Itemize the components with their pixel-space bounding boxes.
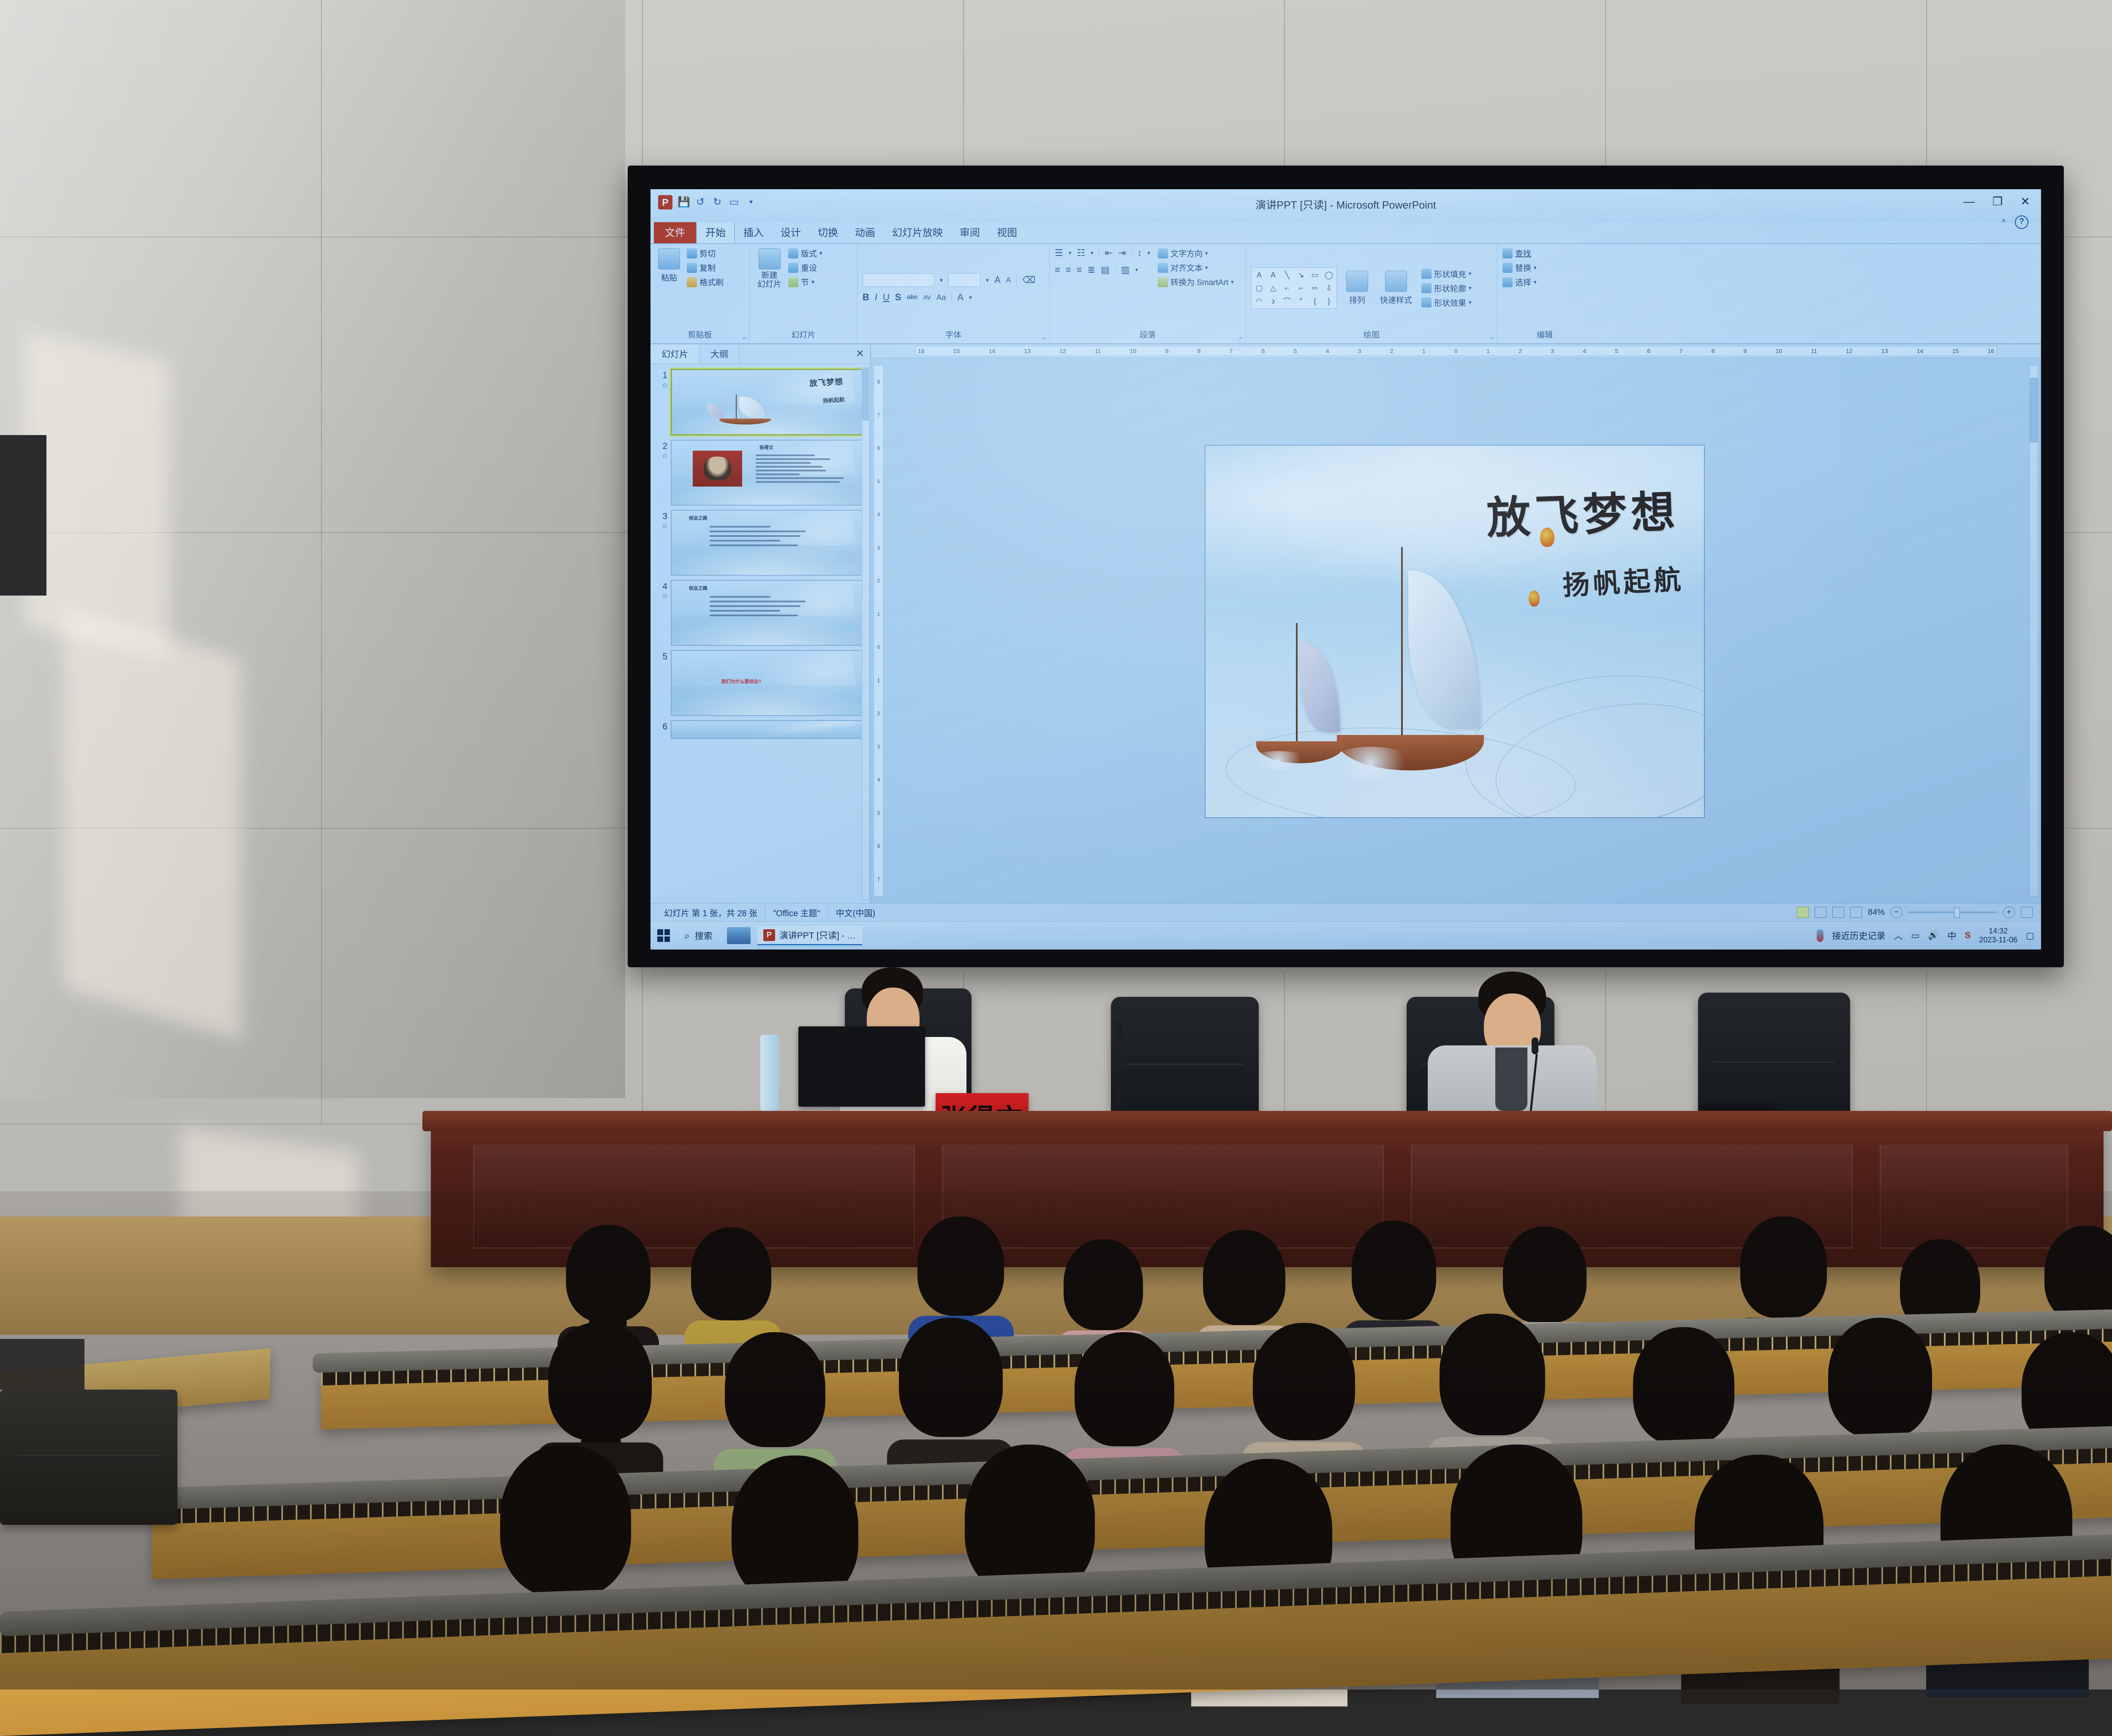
ruler-tick: 0 — [1454, 348, 1458, 354]
bold-button[interactable]: B — [863, 292, 869, 303]
underline-button[interactable]: U — [883, 292, 890, 303]
select-icon — [1502, 277, 1513, 287]
minimize-button[interactable]: — — [1963, 195, 1975, 208]
slide-thumbnail-list[interactable]: 1 ✩ 放飞梦想 扬帆起航 — [650, 364, 870, 903]
replace-icon — [1502, 263, 1513, 273]
shrink-font-icon[interactable]: A — [1006, 276, 1011, 284]
text-direction-icon — [1158, 248, 1168, 258]
find-button[interactable]: 查找 — [1502, 248, 1537, 259]
zoom-level-label: 84% — [1868, 908, 1885, 917]
font-color-button[interactable]: A — [957, 292, 963, 303]
line-spacing-icon[interactable]: ↕ — [1137, 248, 1142, 258]
change-case-button[interactable]: Aa — [936, 293, 946, 302]
slide-thumbnail-6[interactable] — [671, 720, 863, 739]
group-label-editing: 编辑 — [1502, 329, 1587, 342]
maximize-button[interactable]: ❐ — [1992, 195, 2003, 208]
shape-outline-button[interactable]: 形状轮廓 ▾ — [1421, 283, 1472, 294]
thumb-title-line1: 放飞梦想 — [809, 375, 843, 389]
line-shape-icon[interactable]: ╲ — [1281, 269, 1293, 281]
rectangle-shape-icon[interactable]: ▭ — [1309, 269, 1321, 281]
network-icon[interactable]: ▭ — [1911, 931, 1919, 941]
tab-file[interactable]: 文件 — [654, 220, 696, 243]
zoom-out-button[interactable]: − — [1891, 906, 1902, 918]
shape-fill-button[interactable]: 形状填充 ▾ — [1421, 268, 1472, 280]
ruler-tick: 11 — [1095, 348, 1101, 354]
slide-count-status: 幻灯片 第 1 张，共 28 张 — [656, 906, 765, 919]
tab-outline-pane[interactable]: 大纲 — [699, 344, 740, 364]
ribbon-group-clipboard: 粘贴 剪切 复制 — [650, 244, 750, 343]
copy-label: 复制 — [699, 262, 716, 273]
select-button[interactable]: 选择 ▾ — [1502, 276, 1537, 288]
align-right-icon[interactable]: ≡ — [1077, 264, 1082, 275]
notification-icon[interactable]: ▢ — [2026, 931, 2034, 941]
italic-button[interactable]: I — [875, 292, 877, 303]
thumbnail-scrollbar[interactable] — [862, 367, 869, 900]
ruler-tick: 12 — [1846, 348, 1853, 354]
shape-effects-label: 形状效果 — [1434, 297, 1466, 308]
window-title: 演讲PPT [只读] - Microsoft PowerPoint — [650, 197, 2041, 212]
shape-outline-label: 形状轮廓 — [1434, 283, 1466, 294]
horizontal-ruler: 16 15 14 13 12 11 10 9 8 7 6 5 4 — [871, 344, 2041, 358]
distribute-icon[interactable]: ▤ — [1101, 264, 1110, 275]
tab-animations[interactable]: 动画 — [846, 220, 884, 243]
ruler-tick: 7 — [1230, 348, 1233, 354]
ruler-tick: 6 — [1262, 348, 1265, 354]
title-bar: P 💾 ↺ ↻ ▭ ▾ 演讲PPT [只读] - Microsoft Power… — [650, 189, 2041, 222]
ruler-tick: 4 — [877, 777, 880, 783]
ribbon-group-slides: 新建 幻灯片 版式 ▾ 重设 — [750, 244, 857, 343]
ruler-tick: 8 — [1198, 348, 1201, 354]
thumbnail-row[interactable]: 3 ✩ 创业之路 — [650, 508, 870, 578]
arrange-icon — [1346, 271, 1368, 292]
shape-effects-icon — [1421, 297, 1432, 307]
right-brace-shape-icon[interactable]: } — [1323, 295, 1335, 307]
replace-label: 替换 — [1515, 262, 1531, 273]
layout-button[interactable]: 版式 ▾ — [788, 248, 822, 259]
font-style-row[interactable]: B I U S abc AV Aa A ▾ — [863, 292, 972, 303]
theme-status[interactable]: "Office 主题" — [765, 906, 828, 919]
text-shadow-button[interactable]: S — [895, 292, 901, 303]
photo-app-icon[interactable] — [727, 927, 751, 944]
character-spacing-button[interactable]: AV — [923, 294, 931, 301]
format-painter-icon — [687, 277, 697, 287]
taskbar-search[interactable]: ⌕ 搜索 — [677, 929, 720, 942]
ruler-tick: 6 — [877, 843, 880, 849]
ruler-tick: 10 — [1130, 348, 1137, 354]
paste-label: 粘贴 — [661, 272, 677, 283]
weather-thermometer-icon — [1817, 929, 1824, 942]
help-icon[interactable]: ? — [2015, 215, 2028, 229]
tab-transitions[interactable]: 切换 — [809, 220, 846, 243]
ruler-tick: 15 — [953, 348, 960, 354]
ruler-tick: 7 — [877, 876, 880, 882]
ribbon-group-editing: 查找 替换 ▾ 选择 ▾ — [1497, 244, 1592, 343]
thumb-bullet-lines — [756, 454, 851, 483]
editor-scrollbar[interactable] — [2029, 365, 2039, 896]
cut-button[interactable]: 剪切 — [687, 248, 724, 259]
ruler-tick: 1 — [1422, 348, 1426, 354]
ruler-tick: 8 — [1711, 348, 1715, 354]
clipboard-dialog-launcher[interactable]: ⌐ — [743, 335, 747, 342]
ruler-tick: 4 — [1583, 348, 1586, 354]
new-slide-label: 新建 幻灯片 — [757, 272, 781, 289]
thumb-title-line2: 扬帆起航 — [823, 395, 845, 405]
new-slide-button[interactable]: 新建 幻灯片 — [755, 248, 784, 290]
ruler-tick: 13 — [1024, 348, 1031, 354]
strikethrough-button[interactable]: abc — [907, 294, 918, 301]
section-icon — [788, 277, 798, 287]
ruler-tick: 9 — [1743, 348, 1747, 354]
shapes-gallery[interactable]: A A ╲ ↘ ▭ ◯ ▢ △ ⌐ ⌐ ⇨ ⇩ ◠ — [1251, 267, 1337, 309]
slideshow-icon[interactable] — [1850, 907, 1862, 918]
align-text-button[interactable]: 对齐文本 ▾ — [1158, 262, 1234, 273]
reset-button[interactable]: 重设 — [788, 262, 822, 273]
thumbnail-number: 4 — [662, 582, 667, 592]
ribbon-help-row[interactable]: ^ ? — [2002, 215, 2028, 229]
window-controls[interactable]: — ❐ ✕ — [1963, 195, 2030, 208]
quick-styles-label: 快速样式 — [1380, 294, 1412, 305]
thumb-portrait-photo — [693, 451, 743, 487]
elbow-arrow-icon[interactable]: ⌐ — [1295, 282, 1307, 294]
drawing-dialog-launcher[interactable]: ⌐ — [1491, 335, 1494, 342]
numbering-icon[interactable]: ☷ — [1077, 248, 1085, 258]
thumb-title: 张得文 — [759, 444, 773, 451]
ruler-tick: 5 — [1615, 348, 1618, 354]
quick-styles-icon — [1385, 271, 1407, 292]
quick-styles-button[interactable]: 快速样式 — [1377, 270, 1415, 306]
paste-button[interactable]: 粘贴 — [656, 248, 683, 284]
lecture-hall-room: P 💾 ↺ ↻ ▭ ▾ 演讲PPT [只读] - Microsoft Power… — [0, 0, 2112, 1690]
ruler-tick: 12 — [1059, 348, 1066, 354]
thumbnail-number: 3 — [662, 512, 667, 522]
smartart-icon — [1158, 277, 1168, 287]
normal-view-icon[interactable] — [1797, 907, 1809, 918]
ruler-tick: 2 — [1390, 348, 1393, 354]
thumbnail-number: 1 — [662, 370, 667, 381]
close-pane-icon[interactable]: ✕ — [856, 348, 864, 360]
ruler-tick: 1 — [877, 611, 880, 617]
ruler-tick: 1 — [1486, 348, 1490, 354]
slide-thumbnail-pane[interactable]: 幻灯片 大纲 ✕ 1 ✩ 放飞梦想 — [650, 344, 871, 903]
group-label-drawing: 绘图 — [1251, 329, 1492, 342]
ruler-tick: 5 — [1294, 348, 1297, 354]
windows-taskbar[interactable]: ⌕ 搜索 P 演讲PPT [只读] - … 接近历史记录 ︿ ▭ 🔊 中 S — [650, 921, 2041, 950]
ruler-tick: 5 — [877, 479, 880, 484]
ribbon-group-font: ▾ ▾ A A ⌫ B I U S — [857, 244, 1050, 343]
search-label: 搜索 — [695, 929, 713, 942]
find-icon — [1502, 248, 1513, 258]
reset-label: 重设 — [801, 262, 817, 273]
ribbon-group-paragraph: ☰▾ ☷▾ ⇤ ⇥ ↕▾ ≡ ≡ ≡ — [1050, 244, 1246, 343]
close-button[interactable]: ✕ — [2020, 195, 2030, 208]
ruler-tick: 3 — [1358, 348, 1361, 354]
triangle-shape-icon[interactable]: △ — [1267, 282, 1279, 294]
columns-icon[interactable]: ▥ — [1121, 264, 1130, 275]
language-status[interactable]: 中文(中国) — [828, 906, 883, 919]
group-label-slides: 幻灯片 — [755, 329, 852, 342]
clock-date: 2023-11-06 — [1979, 936, 2017, 944]
align-left-icon[interactable]: ≡ — [1055, 264, 1060, 275]
paste-icon — [658, 248, 680, 269]
shape-fill-label: 形状填充 — [1434, 268, 1466, 280]
scribble-shape-icon[interactable]: ϶ — [1267, 295, 1279, 307]
ruler-tick: 9 — [1165, 348, 1169, 354]
align-text-icon — [1158, 263, 1168, 273]
ruler-tick: 7 — [1679, 348, 1682, 354]
align-row[interactable]: ≡ ≡ ≡ ≣ ▤ ▥▾ — [1055, 264, 1150, 275]
display-screen: P 💾 ↺ ↻ ▭ ▾ 演讲PPT [只读] - Microsoft Power… — [650, 189, 2041, 950]
slide-thumbnail-1[interactable]: 放飞梦想 扬帆起航 — [671, 369, 863, 435]
ruler-tick: 2 — [877, 578, 880, 584]
new-slide-icon — [759, 248, 781, 269]
right-arrow-shape-icon[interactable]: ⇨ — [1309, 282, 1321, 294]
group-label-font: 字体 — [863, 329, 1044, 342]
layout-label: 版式 — [801, 248, 817, 259]
slide-thumbnail-4[interactable]: 创业之路 — [671, 580, 863, 646]
reading-view-icon[interactable] — [1832, 907, 1844, 918]
slide-thumbnail-5[interactable]: 我们为什么要创业? — [671, 650, 863, 716]
status-bar[interactable]: 幻灯片 第 1 张，共 28 张 "Office 主题" 中文(中国) 84% … — [650, 903, 2041, 921]
down-arrow-shape-icon[interactable]: ⇩ — [1323, 282, 1335, 294]
bullets-icon[interactable]: ☰ — [1055, 248, 1063, 258]
search-icon: ⌕ — [684, 930, 690, 941]
slide-editor[interactable]: 16 15 14 13 12 11 10 9 8 7 6 5 4 — [871, 344, 2041, 903]
podium-desk-top — [422, 1111, 2112, 1131]
zoom-in-button[interactable]: + — [2003, 906, 2015, 918]
chevron-up-icon[interactable]: ︿ — [1894, 929, 1902, 942]
ruler-tick: 14 — [988, 348, 995, 354]
thumb-bullet-lines — [710, 596, 836, 616]
freeform-shape-icon[interactable]: ◠ — [1253, 295, 1266, 307]
zoom-slider-handle[interactable] — [1954, 908, 1960, 918]
collapse-ribbon-icon[interactable]: ^ — [2002, 218, 2006, 227]
scissors-icon — [687, 248, 697, 258]
thumbpane-tabs[interactable]: 幻灯片 大纲 ✕ — [650, 344, 870, 364]
thumbnail-row[interactable]: 1 ✩ 放飞梦想 扬帆起航 — [650, 367, 870, 438]
ruler-tick: 15 — [1952, 348, 1959, 354]
section-label: 节 — [801, 276, 809, 288]
decrease-indent-icon[interactable]: ⇤ — [1105, 248, 1113, 258]
convert-smartart-button[interactable]: 转换为 SmartArt ▾ — [1158, 276, 1234, 288]
clear-formatting-icon[interactable]: ⌫ — [1022, 275, 1035, 286]
slide-title-line1: 放飞梦想 — [1485, 476, 1680, 546]
animation-star-icon: ✩ — [662, 522, 667, 530]
taskbar-app-label: 演讲PPT [只读] - … — [779, 929, 856, 941]
rounded-rect-shape-icon[interactable]: ▢ — [1253, 282, 1266, 294]
slide-sorter-icon[interactable] — [1815, 907, 1826, 918]
arrange-label: 排列 — [1349, 294, 1365, 305]
ruler-tick: 6 — [1647, 348, 1650, 354]
elbow-connector-icon[interactable]: ⌐ — [1281, 282, 1293, 294]
ruler-tick: 3 — [877, 744, 880, 750]
ruler-tick: 2 — [1519, 348, 1522, 354]
sunlight-patch — [25, 331, 169, 657]
system-tray[interactable]: 接近历史记录 ︿ ▭ 🔊 中 S 14:32 2023-11-06 ▢ — [1817, 927, 2034, 944]
layout-icon — [788, 248, 798, 258]
ruler-tick: 5 — [877, 810, 880, 816]
tab-home[interactable]: 开始 — [696, 219, 735, 243]
ime-icon[interactable]: 中 — [1947, 929, 1956, 942]
tab-slides-pane[interactable]: 幻灯片 — [650, 344, 699, 364]
windows-start-icon[interactable] — [657, 929, 670, 942]
ruler-tick: 8 — [877, 379, 880, 385]
thumb-title: 创业之路 — [689, 514, 708, 521]
align-text-label: 对齐文本 — [1170, 262, 1203, 273]
volume-icon[interactable]: 🔊 — [1928, 931, 1939, 941]
curve-shape-icon[interactable]: ⌒ — [1281, 295, 1293, 307]
side-monitor — [0, 1339, 84, 1390]
cut-label: 剪切 — [699, 248, 716, 259]
select-label: 选择 — [1515, 276, 1531, 288]
increase-indent-icon[interactable]: ⇥ — [1118, 248, 1126, 258]
tab-insert[interactable]: 插入 — [735, 220, 772, 243]
text-direction-label: 文字方向 — [1170, 248, 1203, 259]
horizontal-ruler-scale: 16 15 14 13 12 11 10 9 8 7 6 5 4 — [915, 346, 1997, 356]
ribbon-tabs[interactable]: 文件 开始 插入 设计 切换 动画 幻灯片放映 审阅 视图 — [650, 222, 2041, 244]
lecture-chair — [0, 1390, 177, 1525]
arc-shape-icon[interactable]: ⌃ — [1295, 295, 1307, 307]
arrange-button[interactable]: 排列 — [1344, 270, 1371, 306]
ruler-tick: 16 — [1987, 348, 1994, 354]
wall-speaker-panel — [0, 435, 46, 596]
thumb-bullet-lines — [710, 526, 836, 546]
font-name-combo[interactable] — [863, 273, 934, 287]
thumbnail-row[interactable]: 4 ✩ 创业之路 — [650, 578, 870, 648]
zoom-slider[interactable] — [1908, 912, 1997, 913]
flame-accent — [1540, 528, 1554, 547]
tab-view[interactable]: 视图 — [988, 220, 1026, 243]
left-brace-shape-icon[interactable]: { — [1309, 295, 1321, 307]
arrow-shape-icon[interactable]: ↘ — [1295, 269, 1307, 281]
ruler-tick: 16 — [918, 348, 925, 354]
ruler-tick: 3 — [877, 545, 880, 551]
ruler-tick: 7 — [877, 412, 880, 418]
group-label-clipboard: 剪贴板 — [656, 329, 744, 342]
copy-icon — [687, 263, 697, 273]
section-button[interactable]: 节 ▾ — [788, 276, 822, 288]
thumbnail-row[interactable]: 2 ✩ 张得文 — [650, 438, 870, 508]
editor-scrollbar-handle[interactable] — [2030, 378, 2038, 442]
water-bottle — [760, 1035, 779, 1111]
fit-to-window-icon[interactable] — [2021, 907, 2033, 918]
reset-icon — [788, 263, 798, 273]
thumbnail-row[interactable]: 6 — [650, 718, 870, 741]
tab-design[interactable]: 设计 — [772, 220, 809, 243]
list-row[interactable]: ☰▾ ☷▾ ⇤ ⇥ ↕▾ — [1055, 248, 1150, 258]
slide-canvas-area[interactable]: 8 7 6 5 4 3 2 1 0 1 2 3 4 — [871, 358, 2041, 903]
ribbon[interactable]: 粘贴 剪切 复制 — [650, 244, 2041, 344]
ruler-tick: 6 — [877, 445, 880, 451]
flame-accent — [1529, 590, 1540, 607]
textbox-shape-icon[interactable]: A — [1253, 269, 1266, 281]
workspace: 幻灯片 大纲 ✕ 1 ✩ 放飞梦想 — [650, 344, 2041, 903]
thumbnail-scrollbar-handle[interactable] — [863, 369, 868, 420]
slide-thumbnail-2[interactable]: 张得文 — [671, 440, 863, 506]
shape-fill-icon — [1421, 269, 1432, 279]
shape-effects-button[interactable]: 形状效果 ▾ — [1421, 297, 1472, 308]
current-slide[interactable]: 放飞梦想 扬帆起航 — [1205, 445, 1705, 818]
thumbnail-row[interactable]: 5 我们为什么要创业? — [650, 648, 870, 718]
weather-label[interactable]: 接近历史记录 — [1832, 929, 1885, 942]
animation-star-icon: ✩ — [662, 381, 667, 389]
ruler-tick: 1 — [877, 678, 880, 683]
font-dialog-launcher[interactable]: ⌐ — [1043, 335, 1047, 342]
justify-icon[interactable]: ≣ — [1088, 264, 1095, 275]
ruler-tick: 4 — [1326, 348, 1329, 354]
animation-star-icon: ✩ — [662, 452, 667, 460]
tab-review[interactable]: 审阅 — [951, 220, 988, 243]
format-painter-button[interactable]: 格式刷 — [687, 276, 724, 288]
sunlight-patch — [63, 608, 241, 1039]
thumbnail-number: 5 — [662, 652, 667, 662]
font-size-combo[interactable] — [948, 273, 980, 287]
ruler-tick: 3 — [1551, 348, 1554, 354]
group-label-paragraph: 段落 — [1055, 329, 1241, 342]
ruler-tick: 14 — [1917, 348, 1924, 354]
taskbar-powerpoint-item[interactable]: P 演讲PPT [只读] - … — [757, 926, 862, 945]
thumb-boat-icon — [702, 392, 786, 425]
format-painter-label: 格式刷 — [699, 276, 724, 288]
thumbnail-number: 2 — [662, 441, 667, 452]
slide-thumbnail-3[interactable]: 创业之路 — [671, 510, 863, 576]
thumb-question-text: 我们为什么要创业? — [721, 678, 762, 685]
grow-font-icon[interactable]: A — [994, 275, 1001, 286]
paragraph-dialog-launcher[interactable]: ⌐ — [1239, 335, 1243, 342]
thumb-title: 创业之路 — [689, 585, 708, 591]
font-name-size-row[interactable]: ▾ ▾ A A ⌫ — [863, 273, 1035, 287]
text-direction-button[interactable]: 文字方向 ▾ — [1158, 248, 1234, 259]
powerpoint-window: P 💾 ↺ ↻ ▭ ▾ 演讲PPT [只读] - Microsoft Power… — [650, 189, 2041, 950]
ruler-tick: 10 — [1775, 348, 1782, 354]
ruler-tick: 0 — [877, 644, 880, 650]
clock-time: 14:32 — [1989, 927, 2008, 936]
taskbar-clock[interactable]: 14:32 2023-11-06 — [1979, 927, 2017, 944]
oval-shape-icon[interactable]: ◯ — [1323, 269, 1335, 281]
powerpoint-taskbar-icon: P — [763, 929, 775, 941]
shape-outline-icon — [1421, 283, 1432, 293]
replace-button[interactable]: 替换 ▾ — [1502, 262, 1537, 273]
find-label: 查找 — [1515, 248, 1531, 259]
vertical-textbox-shape-icon[interactable]: A — [1267, 269, 1279, 281]
vertical-ruler: 8 7 6 5 4 3 2 1 0 1 2 3 4 — [874, 365, 884, 896]
animation-star-icon: ✩ — [662, 593, 667, 600]
tab-slideshow[interactable]: 幻灯片放映 — [884, 220, 951, 243]
copy-button[interactable]: 复制 — [687, 262, 724, 273]
ruler-tick: 11 — [1811, 348, 1817, 354]
laptop — [798, 1026, 925, 1107]
slide-title-line2: 扬帆起航 — [1562, 558, 1685, 603]
align-center-icon[interactable]: ≡ — [1066, 264, 1071, 275]
ruler-tick: 2 — [877, 710, 880, 716]
convert-smartart-label: 转换为 SmartArt — [1170, 276, 1228, 288]
sailboat-small — [1245, 617, 1355, 773]
sogou-icon[interactable]: S — [1965, 931, 1970, 941]
ribbon-group-drawing: A A ╲ ↘ ▭ ◯ ▢ △ ⌐ ⌐ ⇨ ⇩ ◠ — [1246, 244, 1497, 343]
thumbnail-number: 6 — [662, 722, 667, 732]
ruler-tick: 13 — [1881, 348, 1888, 354]
ruler-tick: 4 — [877, 512, 880, 517]
